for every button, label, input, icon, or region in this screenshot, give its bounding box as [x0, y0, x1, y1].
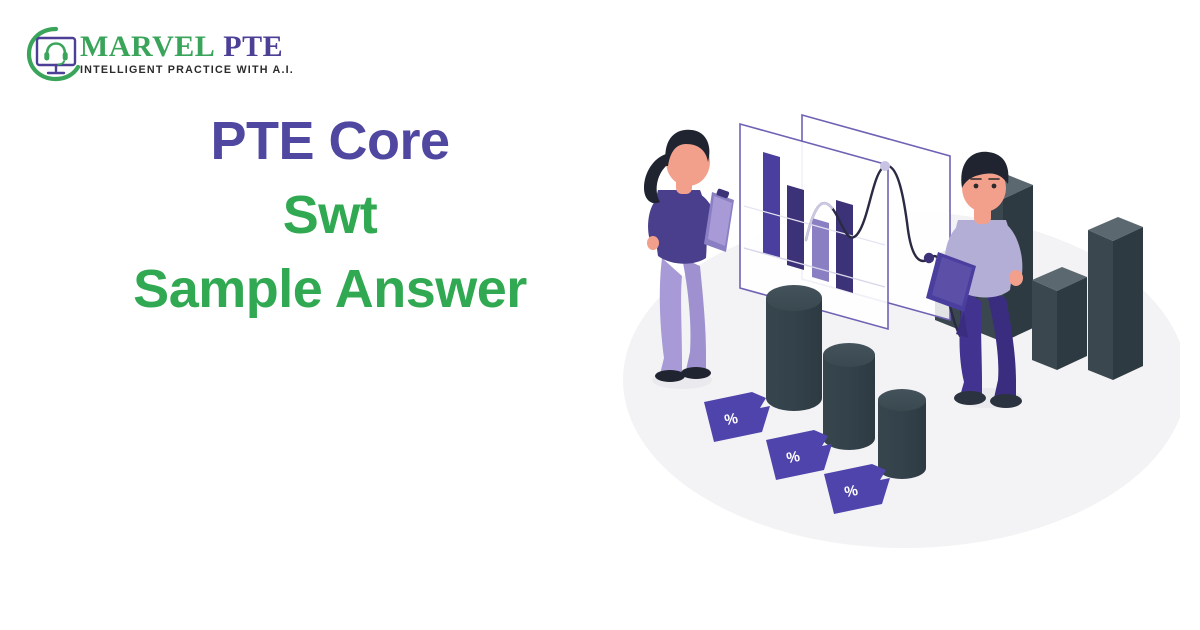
headline-line-2: Swt	[0, 178, 660, 252]
bar-4	[836, 200, 853, 293]
brand-wordmark-pte: PTE	[223, 30, 283, 63]
headline-block: PTE Core Swt Sample Answer	[0, 104, 660, 326]
cylinder-tall	[766, 285, 822, 411]
isometric-data-analytics-illustration: % % %	[620, 80, 1180, 550]
cylinder-short	[878, 389, 926, 479]
bar-3d-mid	[1032, 267, 1087, 370]
bar-3d-right	[1088, 217, 1143, 380]
bar-2	[787, 185, 804, 270]
cylinder-medium	[823, 343, 875, 450]
headline-line-3: Sample Answer	[0, 252, 660, 326]
headline-line-1: PTE Core	[0, 104, 660, 178]
brand-text-block: MARVEL PTE INTELLIGENT PRACTICE WITH A.I…	[80, 32, 303, 77]
brand-wordmark-marvel: MARVEL	[80, 30, 215, 63]
monitor-headset-logo-icon	[26, 26, 84, 82]
brand-wordmark: MARVEL PTE	[80, 32, 303, 62]
brand-logo[interactable]: MARVEL PTE INTELLIGENT PRACTICE WITH A.I…	[26, 26, 303, 82]
brand-tagline: INTELLIGENT PRACTICE WITH A.I.	[80, 64, 294, 77]
bar-1	[763, 152, 780, 258]
